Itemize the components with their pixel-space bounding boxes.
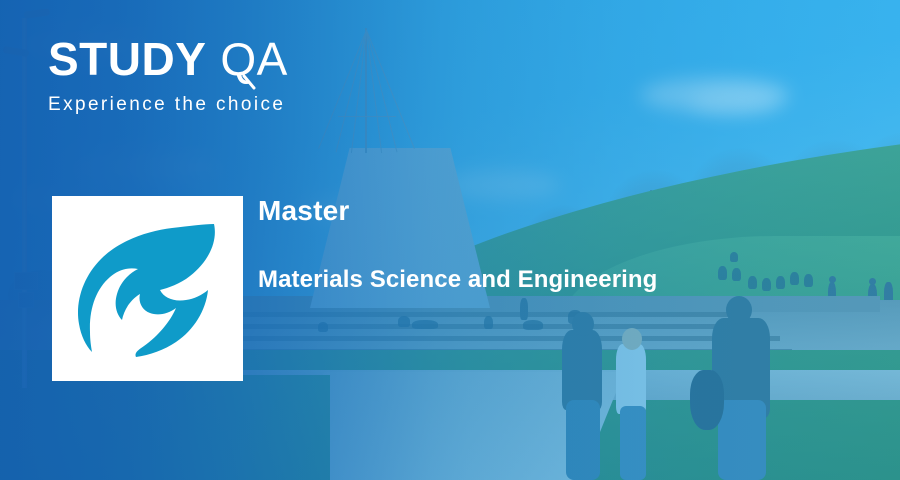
program-banner: STUDY QA Experience the choice Master Ma… xyxy=(0,0,900,480)
brand-name-light: QA xyxy=(220,36,287,82)
brand-name-light-text: QA xyxy=(220,33,287,85)
brand-tagline: Experience the choice xyxy=(48,94,288,116)
brand-name-bold: STUDY xyxy=(48,36,206,82)
degree-level-label: Master xyxy=(258,196,868,227)
program-titles: Master Materials Science and Engineering xyxy=(258,196,868,295)
banner-content: STUDY QA Experience the choice Master Ma… xyxy=(0,0,900,480)
flame-swoosh-logo-icon xyxy=(68,214,228,364)
program-name-title: Materials Science and Engineering xyxy=(258,265,868,295)
studyqa-brand-logo[interactable]: STUDY QA Experience the choice xyxy=(48,36,288,116)
institution-logo-box[interactable] xyxy=(52,196,243,381)
brand-wordmark: STUDY QA xyxy=(48,36,288,82)
